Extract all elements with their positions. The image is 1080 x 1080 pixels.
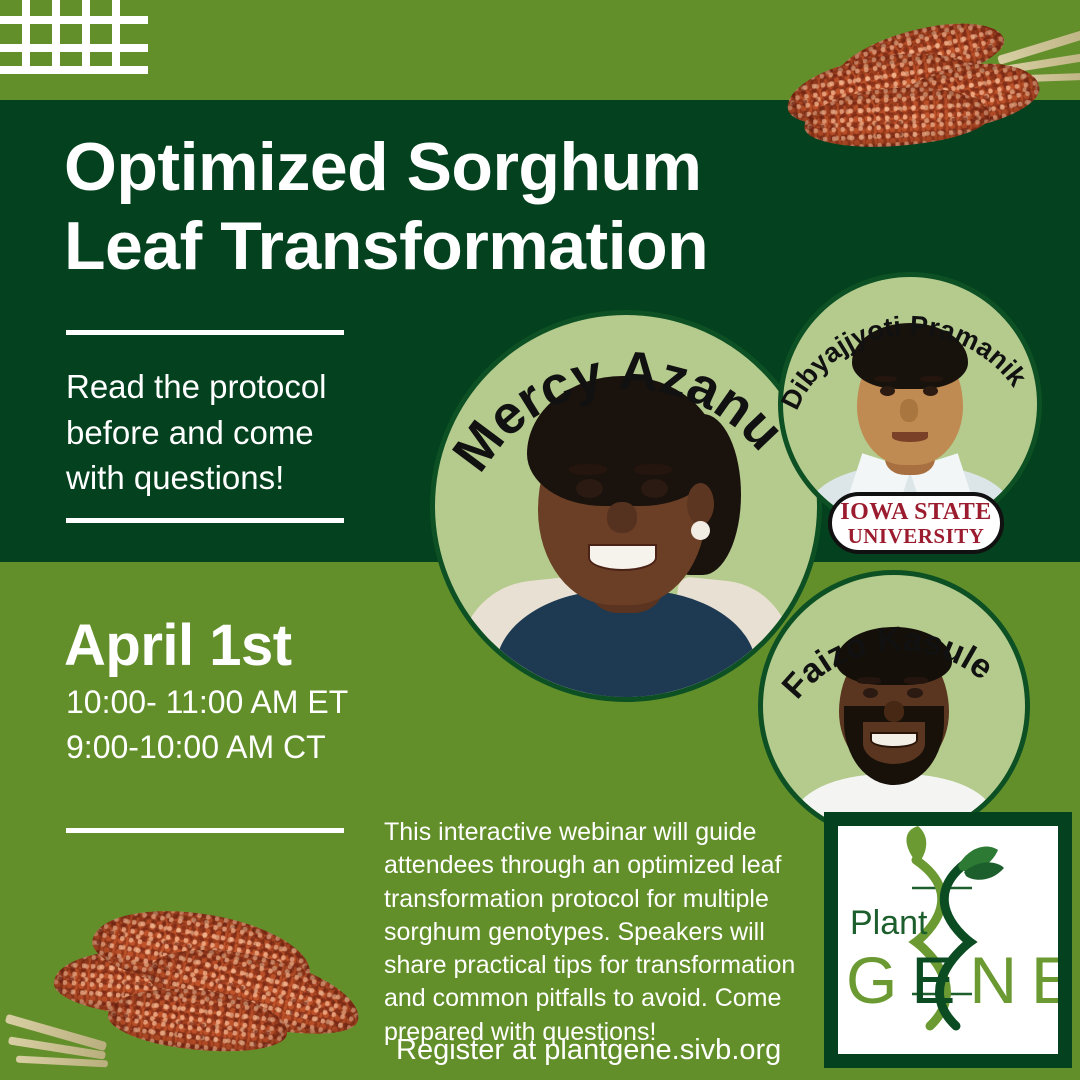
avatar-disc	[758, 570, 1030, 842]
iowa-state-university-badge: IOWA STATE UNIVERSITY	[828, 492, 1004, 554]
title-line-2: Leaf Transformation	[64, 207, 864, 286]
logo-word-plant: Plant	[850, 904, 928, 943]
logo-letter-e1: E	[911, 943, 969, 1017]
logo-word-gene: GENE	[846, 942, 1056, 1018]
isu-line-2: UNIVERSITY	[848, 526, 985, 547]
speaker-avatar-faizo-kasule: Faizo Kasule	[758, 570, 1030, 842]
logo-letter-n: N	[969, 943, 1031, 1017]
grid-decoration	[0, 0, 148, 74]
divider-top	[66, 330, 344, 335]
register-link[interactable]: Register at plantgene.sivb.org	[396, 1034, 781, 1067]
event-times: 10:00- 11:00 AM ET 9:00-10:00 AM CT	[66, 680, 348, 771]
speaker-photo-faizo-kasule	[763, 575, 1025, 837]
logo-inner: Plant GENE	[838, 826, 1058, 1054]
divider-middle	[66, 518, 344, 523]
webinar-poster: Optimized Sorghum Leaf Transformation Re…	[0, 0, 1080, 1080]
event-date: April 1st	[64, 612, 292, 679]
page-title: Optimized Sorghum Leaf Transformation	[64, 128, 864, 286]
title-line-1: Optimized Sorghum	[64, 128, 864, 207]
divider-bottom	[66, 828, 344, 833]
plantgene-logo: Plant GENE	[824, 812, 1072, 1068]
description-text: This interactive webinar will guide atte…	[384, 816, 814, 1049]
isu-line-1: IOWA STATE	[840, 500, 992, 524]
event-time-et: 10:00- 11:00 AM ET	[66, 680, 348, 725]
logo-letter-e2: E	[1031, 943, 1058, 1017]
event-time-ct: 9:00-10:00 AM CT	[66, 725, 348, 770]
speaker-photo-mercy-azanu	[435, 315, 817, 697]
tagline-text: Read the protocol before and come with q…	[66, 364, 366, 501]
logo-letter-g: G	[846, 943, 911, 1017]
